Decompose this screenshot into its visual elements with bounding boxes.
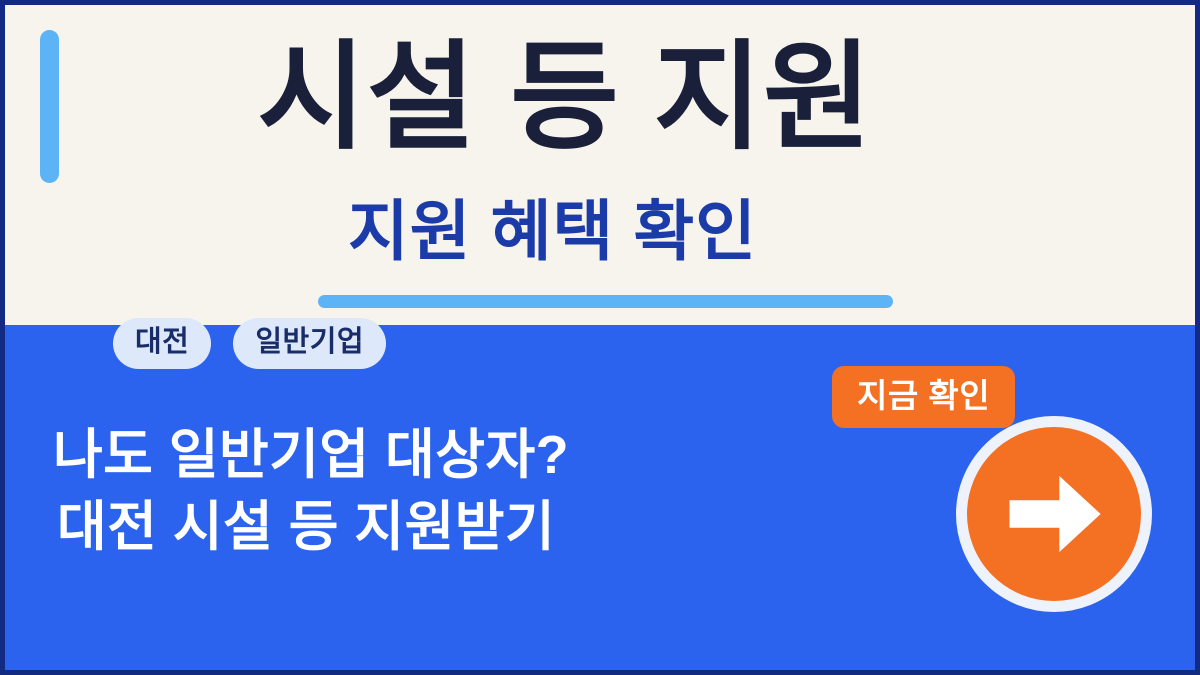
tag-region[interactable]: 대전 [113, 318, 211, 369]
arrow-circle-button[interactable] [956, 416, 1152, 612]
page-title: 시설 등 지원 [5, 39, 1195, 157]
arrow-right-icon [1001, 461, 1107, 567]
subtitle-underline-icon [318, 295, 893, 308]
body-copy-line-2: 대전 시설 등 지원받기 [53, 492, 569, 564]
promo-banner: 시설 등 지원 지원 혜택 확인 대전 일반기업 나도 일반기업 대상자? 대전… [0, 0, 1200, 675]
tag-list: 대전 일반기업 [113, 318, 386, 369]
page-subtitle: 지원 혜택 확인 [344, 198, 761, 276]
body-copy: 나도 일반기업 대상자? 대전 시설 등 지원받기 [53, 420, 569, 564]
header-panel: 시설 등 지원 지원 혜택 확인 [5, 5, 1195, 325]
body-copy-line-1: 나도 일반기업 대상자? [53, 420, 569, 492]
subtitle-wrapper: 지원 혜택 확인 [5, 198, 1195, 276]
tag-company-type[interactable]: 일반기업 [233, 318, 386, 369]
cta-badge-button[interactable]: 지금 확인 [832, 366, 1015, 428]
